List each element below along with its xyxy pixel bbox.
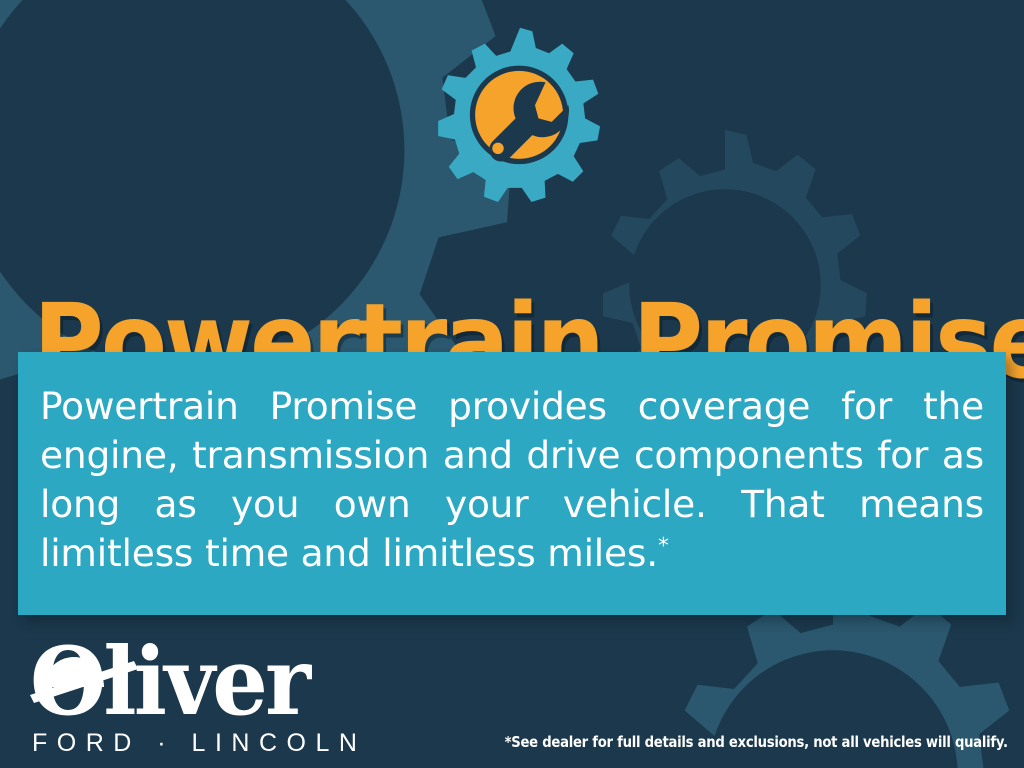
bowler-hat-icon bbox=[28, 641, 148, 715]
disclaimer-text: *See dealer for full details and exclusi… bbox=[505, 735, 1008, 750]
gear-wrench-icon bbox=[432, 24, 608, 204]
logo-subtitle: FORD · LINCOLN bbox=[32, 731, 366, 756]
logo-wordmark: Oliver bbox=[28, 641, 328, 729]
description-panel: Powertrain Promise provides coverage for… bbox=[18, 352, 1006, 615]
footnote-marker: * bbox=[658, 534, 669, 559]
description-paragraph: Powertrain Promise provides coverage for… bbox=[40, 384, 984, 575]
promotional-graphic: Powertrain Promise Powertrain Promise pr… bbox=[0, 0, 1024, 768]
description-text: Powertrain Promise provides coverage for… bbox=[40, 382, 984, 578]
dealer-logo: Oliver FORD · LINCOLN bbox=[28, 641, 328, 759]
